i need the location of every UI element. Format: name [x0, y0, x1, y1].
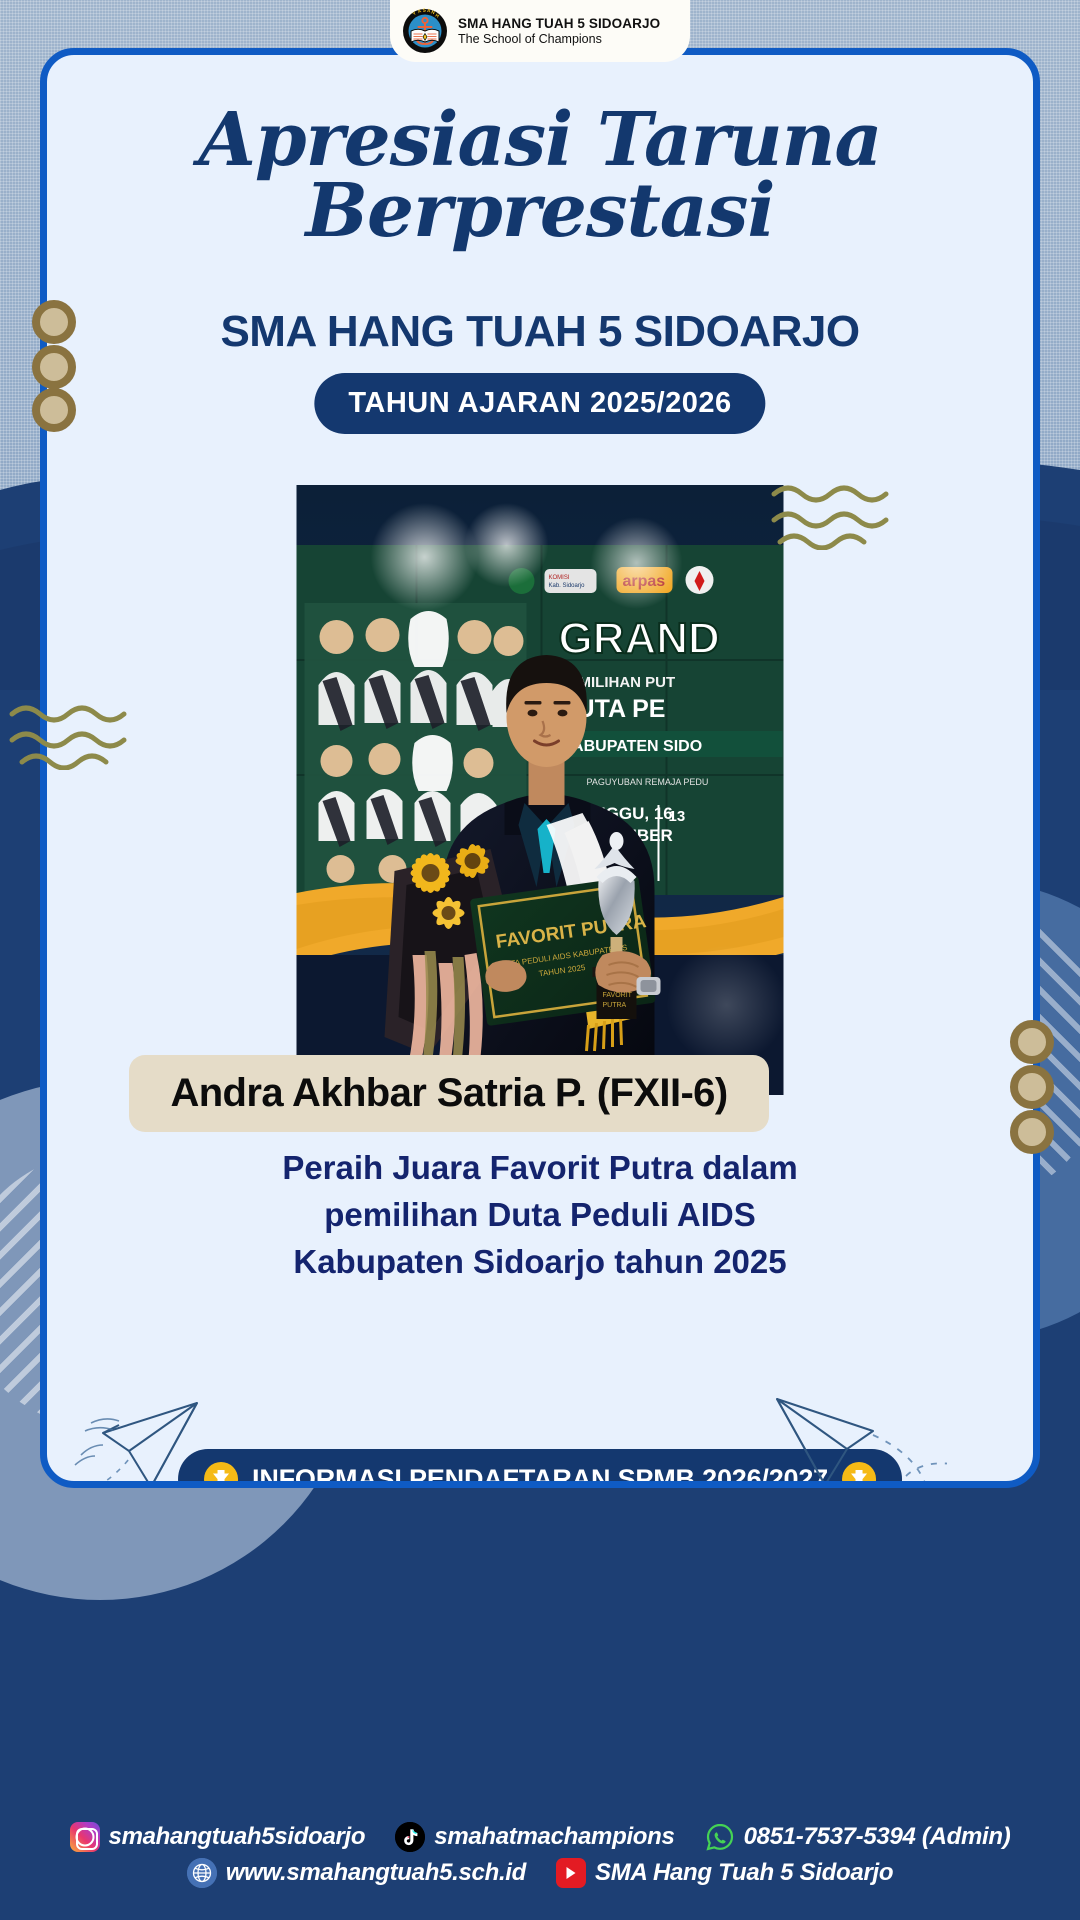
wave-squiggle-left	[8, 700, 128, 770]
binder-ring-left-1	[32, 300, 76, 344]
footer-item-youtube[interactable]: SMA Hang Tuah 5 Sidoarjo	[556, 1858, 893, 1888]
achievement-line-2: pemilihan Duta Peduli AIDS	[47, 1192, 1033, 1239]
binder-ring-right-3	[1010, 1110, 1054, 1154]
achievement-line-3: Kabupaten Sidoarjo tahun 2025	[47, 1239, 1033, 1286]
svg-text:Kab. Sidoarjo: Kab. Sidoarjo	[549, 583, 586, 589]
footer-item-instagram[interactable]: smahangtuah5sidoarjo	[70, 1822, 366, 1852]
svg-text:S: S	[422, 8, 426, 13]
school-logo-header: Y A S A N H SMA HANG TUAH 5 SIDOARJO The…	[390, 0, 690, 62]
youtube-channel: SMA Hang Tuah 5 Sidoarjo	[595, 1859, 893, 1887]
paper-plane-icon-left	[67, 1355, 227, 1481]
footer-item-whatsapp[interactable]: 0851-7537-5394 (Admin)	[705, 1822, 1011, 1852]
cta-label: INFORMASI PENDAFTARAN SPMB 2026/2027	[252, 1464, 828, 1482]
poster-card: Apresiasi Taruna Berprestasi SMA HANG TU…	[40, 48, 1040, 1488]
svg-text:13: 13	[669, 808, 686, 825]
binder-ring-left-2	[32, 345, 76, 389]
footer-row-1: smahangtuah5sidoarjo smahatmachampions	[70, 1822, 1011, 1852]
tiktok-handle: smahatmachampions	[434, 1823, 674, 1851]
svg-text:KOMISI: KOMISI	[549, 575, 570, 581]
photo-illustration: KOMISI Kab. Sidoarjo arpas	[297, 485, 784, 1095]
school-logo-line1: SMA HANG TUAH 5 SIDOARJO	[458, 16, 660, 31]
student-award-photo: KOMISI Kab. Sidoarjo arpas	[297, 485, 784, 1095]
instagram-icon	[70, 1822, 100, 1852]
svg-text:PUTRA: PUTRA	[603, 1002, 627, 1009]
binder-ring-left-3	[32, 388, 76, 432]
wave-squiggle-top-right	[770, 480, 890, 550]
school-crest-icon: Y A S A N H	[402, 8, 448, 54]
student-name-banner: Andra Akhbar Satria P. (FXII-6)	[129, 1055, 769, 1132]
svg-text:GRAND: GRAND	[559, 614, 720, 663]
binder-ring-right-1	[1010, 1020, 1054, 1064]
achievement-description: Peraih Juara Favorit Putra dalam pemilih…	[47, 1145, 1033, 1286]
whatsapp-number: 0851-7537-5394 (Admin)	[744, 1823, 1011, 1851]
footer-item-tiktok[interactable]: smahatmachampions	[395, 1822, 674, 1852]
footer-item-website[interactable]: www.smahangtuah5.sch.id	[187, 1858, 526, 1888]
footer-row-2: www.smahangtuah5.sch.id SMA Hang Tuah 5 …	[187, 1858, 893, 1888]
website-url: www.smahangtuah5.sch.id	[226, 1859, 526, 1887]
student-name-label: Andra Akhbar Satria P. (FXII-6)	[170, 1071, 727, 1115]
footer-social-bar: smahangtuah5sidoarjo smahatmachampions	[0, 1790, 1080, 1920]
achievement-line-1: Peraih Juara Favorit Putra dalam	[47, 1145, 1033, 1192]
school-logo-line2: The School of Champions	[458, 32, 660, 46]
binder-ring-right-2	[1010, 1065, 1054, 1109]
svg-text:PAGUYUBAN REMAJA PEDU: PAGUYUBAN REMAJA PEDU	[587, 777, 709, 787]
globe-icon	[187, 1858, 217, 1888]
paper-plane-icon-right	[747, 1355, 947, 1481]
poster-script-title: Apresiasi Taruna Berprestasi	[47, 105, 1033, 247]
whatsapp-icon	[705, 1822, 735, 1852]
svg-text:FAVORIT: FAVORIT	[603, 992, 633, 999]
academic-year-badge: TAHUN AJARAN 2025/2026	[314, 373, 765, 434]
tiktok-icon	[395, 1822, 425, 1852]
youtube-icon	[556, 1858, 586, 1888]
script-title-line2: Berprestasi	[47, 176, 1033, 247]
instagram-handle: smahangtuah5sidoarjo	[109, 1823, 366, 1851]
school-name-heading: SMA HANG TUAH 5 SIDOARJO	[47, 307, 1033, 357]
